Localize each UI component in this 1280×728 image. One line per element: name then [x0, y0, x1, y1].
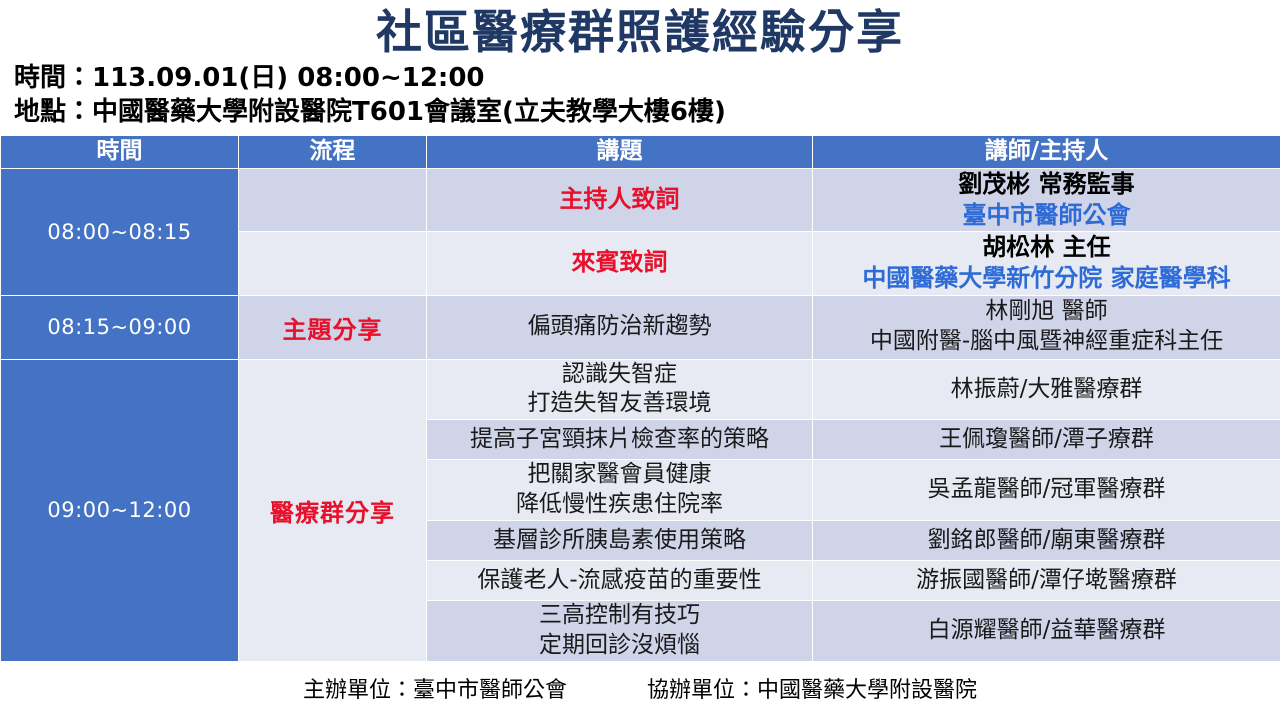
table-row: 09:00~12:00 醫療群分享 認識失智症 打造失智友善環境 林振蔚/大雅醫… — [1, 359, 1280, 420]
speaker-name: 游振國醫師/潭仔墘醫療群 — [819, 566, 1274, 596]
topic-line-2: 打造失智友善環境 — [433, 389, 806, 419]
cell-speaker: 游振國醫師/潭仔墘醫療群 — [813, 561, 1280, 601]
cell-speaker: 吳孟龍醫師/冠軍醫療群 — [813, 460, 1280, 521]
cell-topic: 三高控制有技巧 定期回診沒煩惱 — [427, 601, 813, 662]
cell-topic: 保護老人-流感疫苗的重要性 — [427, 561, 813, 601]
cell-speaker: 劉銘郎醫師/廟東醫療群 — [813, 521, 1280, 561]
cell-topic: 基層診所胰島素使用策略 — [427, 521, 813, 561]
footer-coorganizer: 協辦單位：中國醫藥大學附設醫院 — [647, 678, 977, 703]
topic-text: 來賓致詞 — [572, 248, 668, 276]
cell-flow: 主題分享 — [239, 295, 427, 359]
cell-topic: 把關家醫會員健康 降低慢性疾患住院率 — [427, 460, 813, 521]
column-header-flow: 流程 — [239, 135, 427, 168]
topic-line-1: 認識失智症 — [433, 360, 806, 390]
topic-line-1: 保護老人-流感疫苗的重要性 — [433, 566, 806, 596]
table-header-row: 時間 流程 講題 講師/主持人 — [1, 135, 1280, 168]
table-row: 08:15~09:00 主題分享 偏頭痛防治新趨勢 林剛旭 醫師 中國附醫-腦中… — [1, 295, 1280, 359]
speaker-name: 劉銘郎醫師/廟東醫療群 — [819, 526, 1274, 556]
speaker-name: 白源耀醫師/益華醫療群 — [819, 616, 1274, 646]
cell-speaker: 胡松林 主任 中國醫藥大學新竹分院 家庭醫學科 — [813, 232, 1280, 295]
event-meta: 時間：113.09.01(日) 08:00~12:00 地點：中國醫藥大學附設醫… — [0, 62, 1280, 129]
cell-speaker: 林振蔚/大雅醫療群 — [813, 359, 1280, 420]
cell-speaker: 白源耀醫師/益華醫療群 — [813, 601, 1280, 662]
topic-line-2: 降低慢性疾患住院率 — [433, 490, 806, 520]
topic-text: 主持人致詞 — [560, 185, 680, 213]
speaker-name: 吳孟龍醫師/冠軍醫療群 — [819, 475, 1274, 505]
footer-organizer: 主辦單位：臺中市醫師公會 — [303, 678, 567, 703]
speaker-name: 林振蔚/大雅醫療群 — [819, 375, 1274, 405]
cell-topic: 認識失智症 打造失智友善環境 — [427, 359, 813, 420]
page-title: 社區醫療群照護經驗分享 — [0, 8, 1280, 56]
cell-flow — [239, 232, 427, 295]
table-row: 08:00~08:15 主持人致詞 劉茂彬 常務監事 臺中市醫師公會 — [1, 168, 1280, 231]
cell-flow — [239, 168, 427, 231]
speaker-organization: 臺中市醫師公會 — [819, 200, 1274, 231]
cell-time: 09:00~12:00 — [1, 359, 239, 661]
topic-line-1: 把關家醫會員健康 — [433, 460, 806, 490]
cell-speaker: 王佩瓊醫師/潭子療群 — [813, 420, 1280, 460]
speaker-name: 胡松林 主任 — [819, 232, 1274, 263]
column-header-time: 時間 — [1, 135, 239, 168]
speaker-name: 王佩瓊醫師/潭子療群 — [819, 425, 1274, 455]
topic-text: 偏頭痛防治新趨勢 — [433, 312, 806, 342]
speaker-name: 劉茂彬 常務監事 — [819, 169, 1274, 200]
poster-root: 社區醫療群照護經驗分享 時間：113.09.01(日) 08:00~12:00 … — [0, 8, 1280, 728]
cell-topic: 來賓致詞 — [427, 232, 813, 295]
cell-time: 08:15~09:00 — [1, 295, 239, 359]
topic-line-1: 三高控制有技巧 — [433, 601, 806, 631]
column-header-speaker: 講師/主持人 — [813, 135, 1280, 168]
topic-line-1: 基層診所胰島素使用策略 — [433, 526, 806, 556]
cell-speaker: 林剛旭 醫師 中國附醫-腦中風暨神經重症科主任 — [813, 295, 1280, 359]
event-place-line: 地點：中國醫藥大學附設醫院T601會議室(立夫教學大樓6樓) — [14, 96, 1280, 129]
column-header-topic: 講題 — [427, 135, 813, 168]
schedule-table: 時間 流程 講題 講師/主持人 08:00~08:15 主持人致詞 劉茂彬 常務… — [0, 135, 1280, 662]
speaker-organization: 中國附醫-腦中風暨神經重症科主任 — [819, 327, 1274, 357]
event-time-line: 時間：113.09.01(日) 08:00~12:00 — [14, 62, 1280, 95]
cell-time: 08:00~08:15 — [1, 168, 239, 295]
cell-topic: 主持人致詞 — [427, 168, 813, 231]
cell-flow: 醫療群分享 — [239, 359, 427, 661]
cell-speaker: 劉茂彬 常務監事 臺中市醫師公會 — [813, 168, 1280, 231]
cell-topic: 偏頭痛防治新趨勢 — [427, 295, 813, 359]
footer: 主辦單位：臺中市醫師公會 協辦單位：中國醫藥大學附設醫院 — [0, 672, 1280, 704]
topic-line-1: 提高子宮頸抹片檢查率的策略 — [433, 425, 806, 455]
speaker-name: 林剛旭 醫師 — [819, 297, 1274, 327]
cell-topic: 提高子宮頸抹片檢查率的策略 — [427, 420, 813, 460]
speaker-organization: 中國醫藥大學新竹分院 家庭醫學科 — [819, 263, 1274, 294]
topic-line-2: 定期回診沒煩惱 — [433, 631, 806, 661]
